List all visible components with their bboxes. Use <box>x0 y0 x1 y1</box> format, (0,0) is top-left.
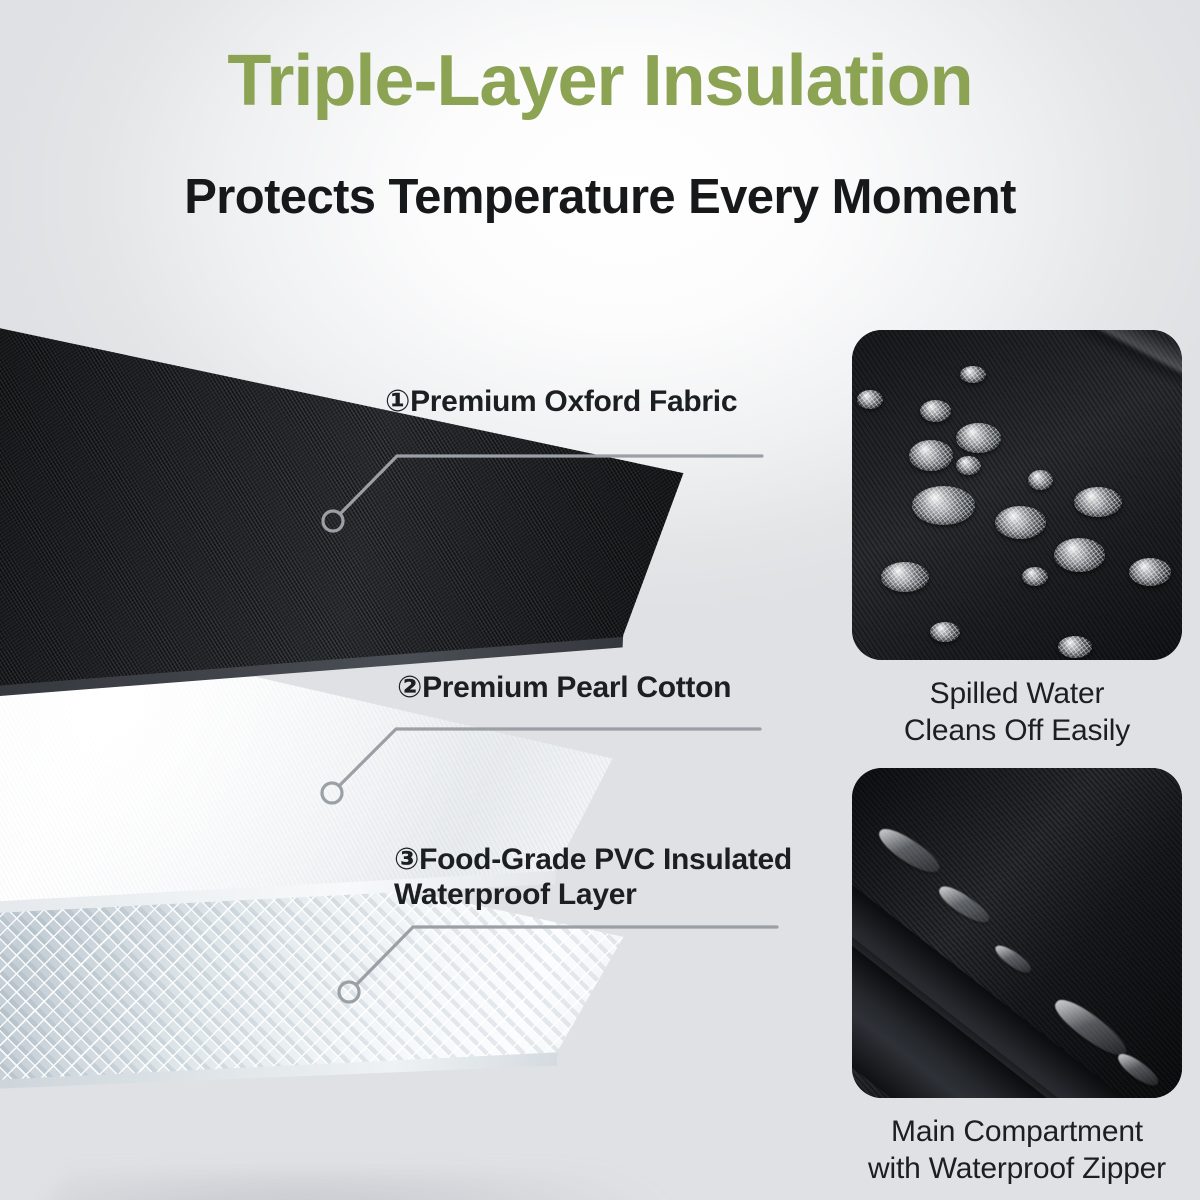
feature-card-waterproof-zipper <box>852 768 1182 1098</box>
waterproof-zipper-photo <box>852 768 1182 1098</box>
water-drop <box>912 486 975 525</box>
infographic-page: Triple-Layer Insulation Protects Tempera… <box>0 0 1200 1200</box>
water-beading-photo <box>852 330 1182 660</box>
water-drop <box>1074 487 1122 517</box>
water-drop <box>930 622 960 642</box>
layer-label-pvc-waterproof: ③Food-Grade PVC Insulated Waterproof Lay… <box>394 842 792 913</box>
feature-caption-waterproof-zipper: Main Compartment with Waterproof Zipper <box>827 1114 1200 1187</box>
oxford-twill-texture <box>852 330 1182 660</box>
water-drop <box>909 440 953 471</box>
water-drop <box>881 562 929 592</box>
leader-path-3 <box>356 927 777 985</box>
water-drop <box>956 423 1001 453</box>
water-drop <box>960 366 986 383</box>
water-drop <box>1028 470 1053 490</box>
layer-label-oxford-fabric: ①Premium Oxford Fabric <box>385 384 737 419</box>
water-drop <box>995 506 1046 539</box>
water-drop <box>1058 636 1092 658</box>
leader-path-2 <box>339 729 760 786</box>
leader-path-1 <box>340 456 762 514</box>
water-drop <box>857 390 883 409</box>
water-drop <box>1022 567 1048 586</box>
water-drop <box>956 456 981 475</box>
feature-card-water-beading <box>852 330 1182 660</box>
feature-caption-water-beading: Spilled Water Cleans Off Easily <box>827 676 1200 749</box>
water-drop <box>920 400 951 422</box>
layer-label-pearl-cotton: ②Premium Pearl Cotton <box>397 670 731 705</box>
water-drop <box>1129 558 1171 586</box>
water-drop <box>1054 538 1105 572</box>
